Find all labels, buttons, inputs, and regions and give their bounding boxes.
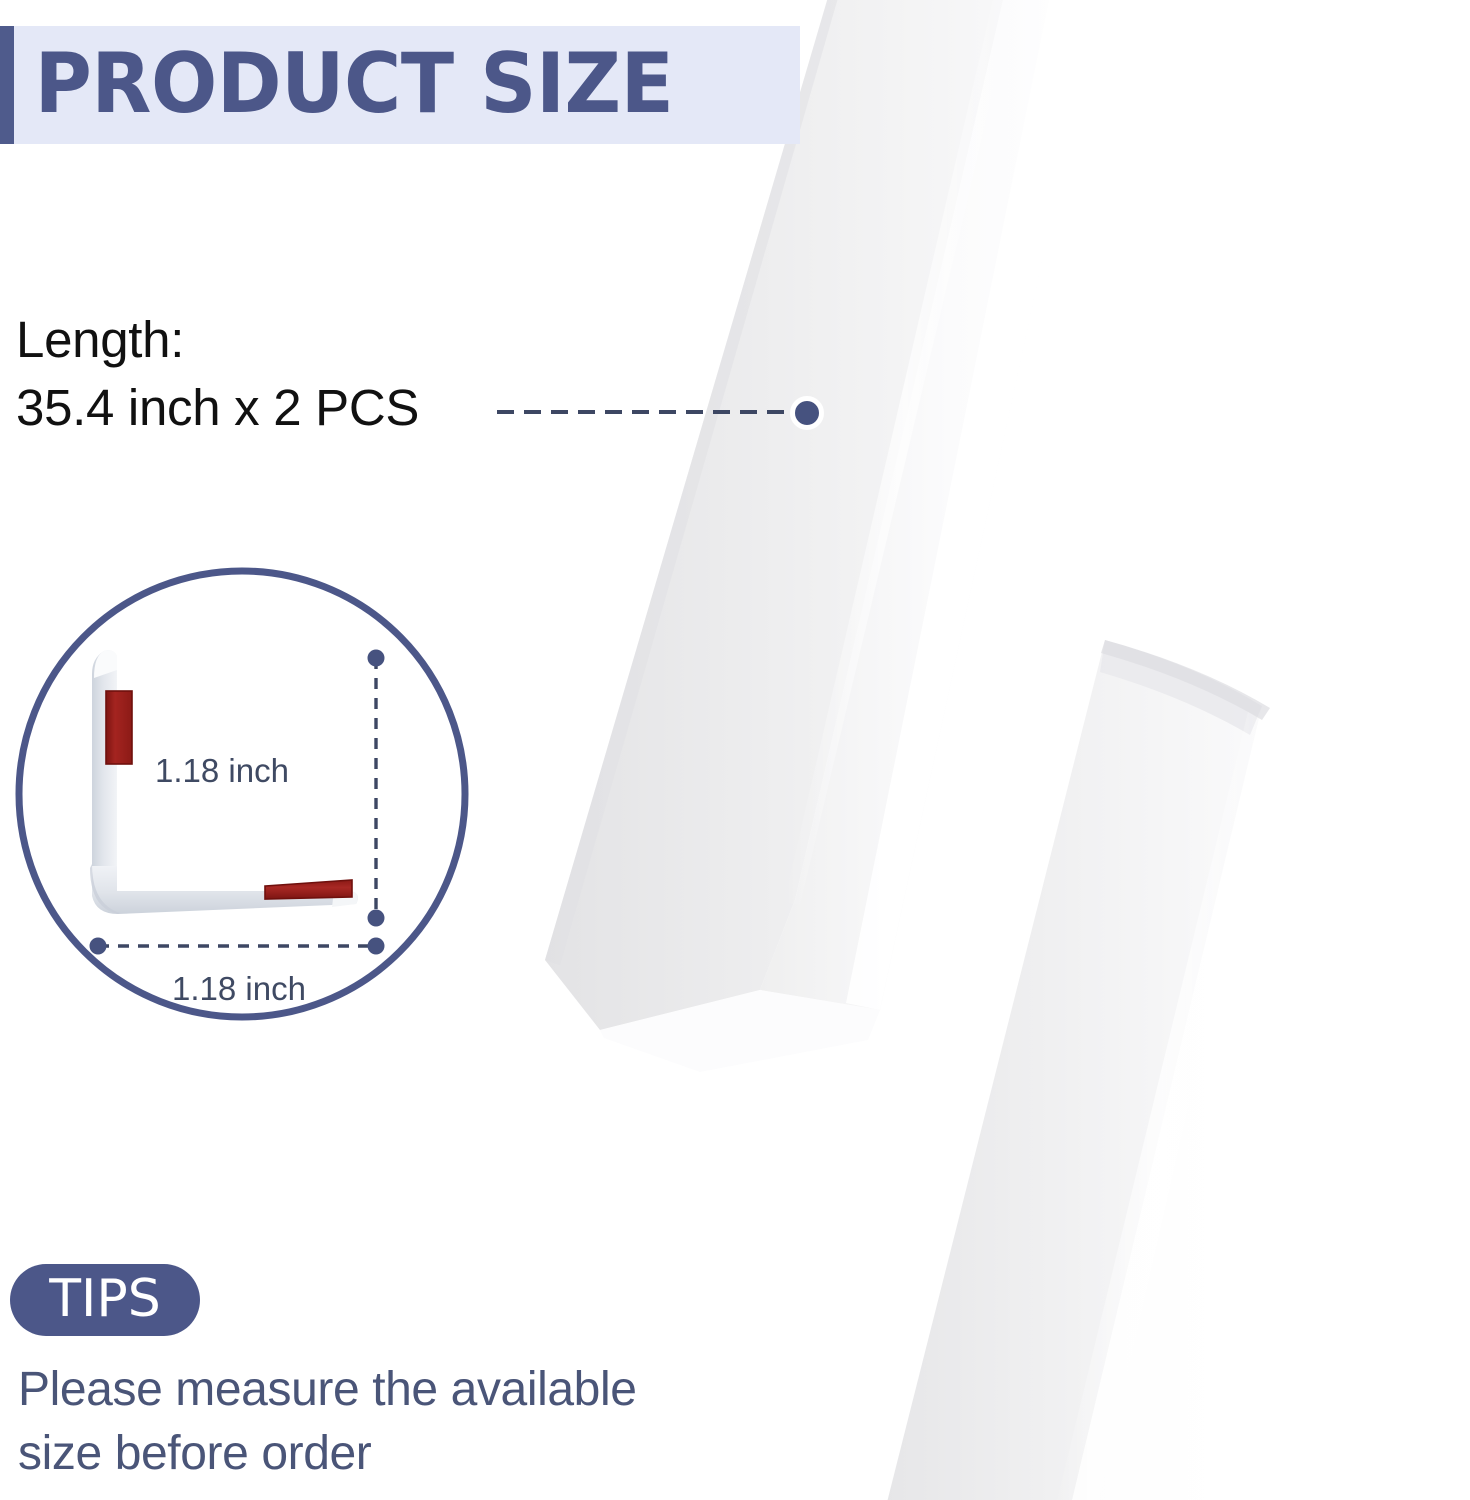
page-title: PRODUCT SIZE [14, 42, 673, 125]
header-accent-bar [0, 26, 14, 144]
profile-vertical-arm [92, 650, 117, 891]
header-banner: PRODUCT SIZE [0, 26, 800, 144]
dimension-dot-top [368, 650, 385, 667]
leader-endpoint-dot [790, 396, 824, 430]
length-label: Length: [16, 306, 419, 374]
tips-badge-label: TIPS [49, 1273, 160, 1325]
tips-body-text: Please measure the available size before… [18, 1358, 798, 1486]
leader-dashed-line [497, 410, 797, 414]
dimension-dot-right [368, 938, 385, 955]
length-callout: Length: 35.4 inch x 2 PCS [16, 306, 419, 442]
tips-line-2: size before order [18, 1422, 798, 1486]
tips-line-1: Please measure the available [18, 1358, 798, 1422]
adhesive-strip-vertical [106, 691, 132, 764]
dimension-dot-bottom [368, 910, 385, 927]
detail-circle-outline [19, 571, 465, 1017]
dimension-label-width: 1.18 inch [172, 970, 306, 1007]
tips-badge: TIPS [10, 1264, 200, 1336]
dimension-dot-left [90, 938, 107, 955]
adhesive-strip-horizontal [265, 880, 352, 899]
cross-section-detail-circle: 1.18 inch 1.18 inch [14, 566, 470, 1022]
length-value: 35.4 inch x 2 PCS [16, 374, 419, 442]
dimension-label-height: 1.18 inch [155, 752, 289, 789]
product-size-infographic: PRODUCT SIZE Length: 35.4 inch x 2 PCS [0, 0, 1470, 1500]
